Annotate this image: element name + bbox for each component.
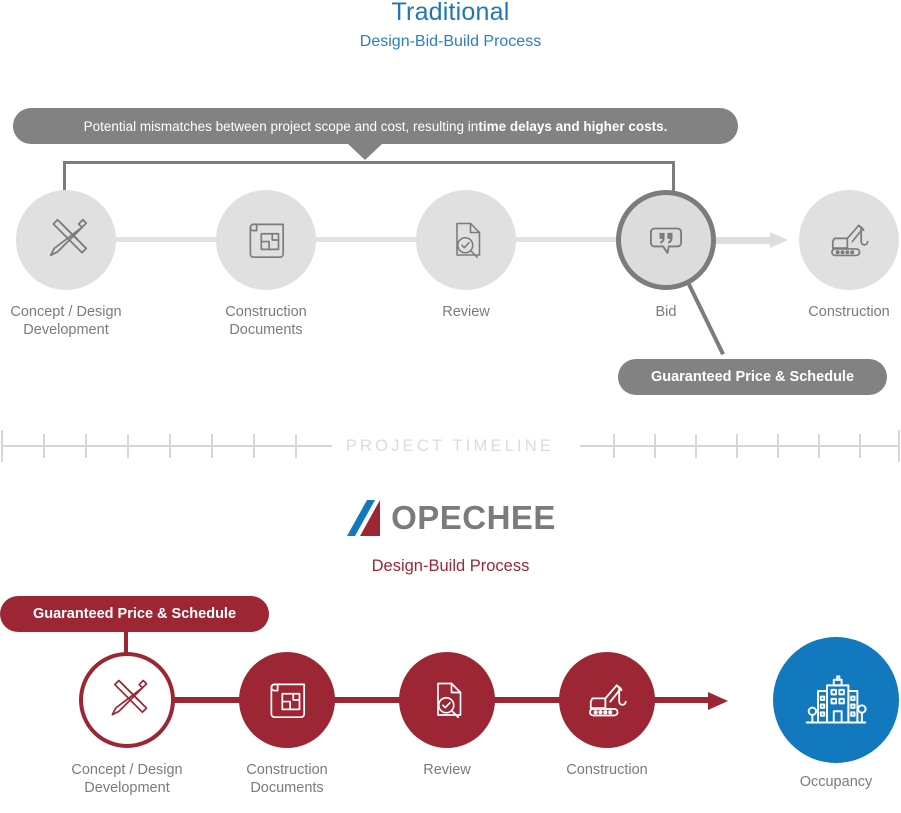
traditional-step-label: Bid <box>566 303 766 321</box>
traditional-arrow-icon <box>716 232 788 248</box>
blueprint-icon <box>241 215 291 265</box>
document-magnifier-icon <box>423 676 471 724</box>
office-building-icon <box>800 664 872 736</box>
quote-bubble-icon <box>643 217 689 263</box>
traditional-step-construction[interactable]: Construction <box>749 190 901 321</box>
crane-icon <box>581 674 633 726</box>
brand-wordmark: OPECHEE <box>391 501 556 535</box>
blueprint-icon <box>262 675 312 725</box>
opechee-step-circle <box>399 652 495 748</box>
opechee-step-label: Construction <box>507 761 707 779</box>
crane-icon <box>823 214 875 266</box>
traditional-step-circle <box>799 190 899 290</box>
opechee-logo-mark-icon <box>345 498 391 538</box>
document-magnifier-icon <box>442 216 490 264</box>
brand-block: OPECHEE Design-Build Process <box>0 498 901 576</box>
traditional-step-circle <box>416 190 516 290</box>
page-subtitle: Design-Bid-Build Process <box>0 33 901 51</box>
opechee-arrow-icon <box>650 692 730 708</box>
traditional-step-circle-highlighted <box>616 190 716 290</box>
traditional-step-circle <box>216 190 316 290</box>
opechee-step-occupancy[interactable]: Occupancy <box>736 637 901 791</box>
opechee-step-construction[interactable]: Construction <box>507 652 707 779</box>
ruler-pencil-icon <box>101 674 153 726</box>
traditional-step-construction-documents[interactable]: Construction Documents <box>166 190 366 339</box>
timeline-axis-right <box>580 445 899 447</box>
warning-banner-pointer-icon <box>347 143 383 160</box>
timeline-endcap <box>898 430 900 462</box>
opechee-step-label: Occupancy <box>736 773 901 791</box>
project-timeline-label: PROJECT TIMELINE <box>320 437 580 456</box>
opechee-process-row: Concept / Design Development Constructio… <box>0 652 901 812</box>
traditional-connector <box>316 237 416 242</box>
traditional-step-review[interactable]: Review <box>366 190 566 321</box>
traditional-connector <box>116 237 216 242</box>
warning-banner-text: Potential mismatches between project sco… <box>84 119 479 134</box>
traditional-step-concept-design[interactable]: Concept / Design Development <box>0 190 166 339</box>
traditional-process-row: Concept / Design Development Constructio… <box>0 190 901 340</box>
traditional-step-circle <box>16 190 116 290</box>
opechee-step-circle-occupancy <box>773 637 899 763</box>
traditional-step-bid[interactable]: Bid <box>566 190 766 321</box>
opechee-step-circle <box>79 652 175 748</box>
timeline-endcap <box>1 430 3 462</box>
opechee-step-circle <box>239 652 335 748</box>
traditional-step-label: Construction <box>749 303 901 321</box>
opechee-guaranteed-price-callout: Guaranteed Price & Schedule <box>0 596 269 632</box>
opechee-step-circle <box>559 652 655 748</box>
traditional-step-label: Review <box>366 303 566 321</box>
warning-banner: Potential mismatches between project sco… <box>13 108 738 144</box>
ruler-pencil-icon <box>39 213 93 267</box>
traditional-step-label: Construction Documents <box>166 303 366 339</box>
traditional-connector <box>516 237 616 242</box>
warning-banner-emphasis: time delays and higher costs. <box>478 119 667 134</box>
page-title: Traditional <box>0 0 901 27</box>
traditional-guaranteed-price-callout: Guaranteed Price & Schedule <box>618 359 887 395</box>
timeline-axis-left <box>2 445 332 447</box>
project-timeline: PROJECT TIMELINE <box>0 424 901 469</box>
brand-subtitle: Design-Build Process <box>0 557 901 576</box>
traditional-step-label: Concept / Design Development <box>0 303 166 339</box>
